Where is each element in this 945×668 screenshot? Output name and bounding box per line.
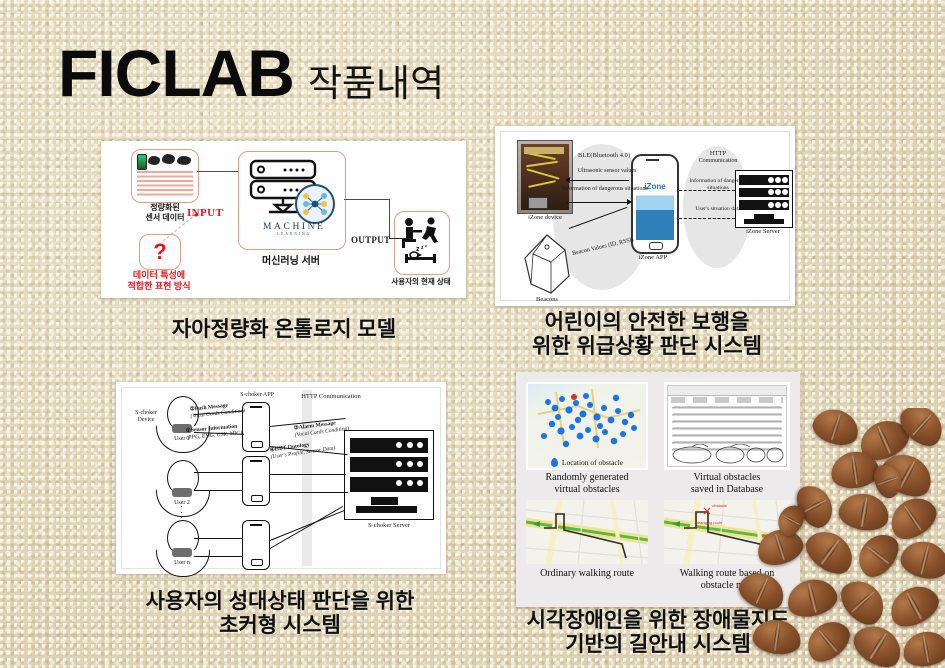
- map-canvas-1: [528, 384, 646, 468]
- edge-question-to-input: [161, 213, 201, 245]
- arrow-app-to-user2: [194, 472, 242, 473]
- edge-output-arrow: [389, 238, 411, 239]
- project-caption-1: 자아정량화 온톨로지 모델: [101, 318, 467, 342]
- title-main: FICLAB: [58, 40, 294, 106]
- msg-ultrasonic: Ultrasonic sensor values: [561, 168, 653, 174]
- s-choker-server-icon: [344, 430, 434, 520]
- edge-ml-to-output-h: [344, 199, 390, 200]
- question-box-caption: 데이터 특성에 적합한 표현 방식: [107, 270, 211, 293]
- random-obstacles-map: Location of obstacle: [526, 382, 648, 470]
- phone-icon: [137, 154, 147, 170]
- arrow-usern-to-app: [194, 556, 242, 557]
- wearable-icon-1: [148, 156, 160, 165]
- msg-user-situation: User's situation data: [681, 206, 755, 212]
- msg-danger-to-app: Information of dangerous situations: [559, 186, 651, 194]
- svg-text:obstacle: obstacle: [712, 503, 728, 508]
- beacon-icon: [519, 232, 575, 296]
- izone-app-label: iZone APP: [621, 254, 685, 261]
- ml-brand-label: MACHINE LEARNING: [263, 222, 325, 236]
- sensor-data-box: [131, 149, 199, 203]
- route-graphic-3: [526, 500, 648, 564]
- sensor-data-lines: [137, 171, 193, 198]
- ml-brand-main: MACHINE: [263, 222, 326, 232]
- wearable-icon-2: [162, 154, 175, 164]
- arrow-server-to-app2: [270, 474, 346, 475]
- question-caption-line1: 데이터 특성에: [107, 270, 211, 281]
- ml-server-box: MACHINE LEARNING: [238, 151, 346, 250]
- s-choker-device-label-1: S-choker: [124, 410, 168, 417]
- neural-network-icon: [295, 184, 335, 224]
- legend-marker-icon: [551, 458, 558, 467]
- s-choker-device-collar-2: [172, 488, 192, 497]
- map-canvas-3: [526, 500, 648, 564]
- coffee-beans-decoration: [735, 408, 945, 668]
- arrow-app-to-device: [567, 202, 629, 203]
- izone-app-screen: iZone: [636, 168, 674, 240]
- s-choker-app-phone-2: [242, 456, 270, 506]
- caption-2-line-1: 어린이의 안전한 보행을: [482, 311, 812, 335]
- arrow-app-to-usern: [194, 538, 242, 539]
- page-title: FICLAB 작품내역: [58, 40, 444, 106]
- edge-sensor-to-ml-h: [197, 171, 238, 172]
- ble-channel-label: BLE(Bluetooth 4.0): [559, 152, 649, 159]
- arrow-app2-to-server: [270, 492, 348, 493]
- question-caption-line2: 적합한 표현 방식: [107, 281, 211, 292]
- project-caption-3: 사용자의 성대상태 판단을 위한 초커형 시스템: [90, 590, 470, 637]
- izone-device-label: iZone device: [509, 214, 581, 221]
- cell-1-caption-line1: Randomly generated: [522, 472, 652, 484]
- svg-text:changing route: changing route: [696, 520, 723, 525]
- arrowhead-right-1: [627, 199, 632, 205]
- http-channel-band: [302, 390, 312, 566]
- caption-1-line-1: 자아정량화 온톨로지 모델: [101, 318, 467, 342]
- svg-text:z: z: [425, 243, 427, 248]
- beacons-label: Beacons: [517, 296, 577, 303]
- http-channel-label-1: HTTP: [691, 150, 745, 157]
- arrow-app-to-server: [679, 190, 735, 191]
- map-legend-1: Location of obstacle: [528, 458, 646, 467]
- project-panel-3[interactable]: User 1 S-choker Device User 2 User n ...…: [116, 382, 446, 574]
- legend-label: Location of obstacle: [562, 458, 623, 467]
- cell-3-caption-line1: Ordinary walking route: [520, 568, 654, 580]
- ordinary-route-map: [526, 500, 648, 564]
- izone-server-label: iZone Server: [729, 228, 797, 235]
- s-choker-app-phone-n: [242, 520, 270, 570]
- http-communication-label: HTTP Communication: [280, 393, 382, 400]
- arrow-server-to-app: [679, 218, 735, 219]
- map-obstacle-dots: [528, 384, 646, 454]
- edge-ml-to-output-v: [389, 199, 390, 239]
- svg-text:z: z: [421, 245, 424, 251]
- arrowhead-left-1: [565, 177, 570, 183]
- wearable-icon-3: [177, 156, 191, 165]
- cell-1-caption: Randomly generated virtual obstacles: [522, 472, 652, 496]
- panel-3-inner: User 1 S-choker Device User 2 User n ...…: [121, 387, 441, 569]
- project-panel-1[interactable]: 정량화된 센서 데이터 ? 데이터 특성에 적합한 표현 방식 MACHINE: [101, 141, 466, 298]
- edge-label-output: OUTPUT: [351, 235, 390, 245]
- panel-2-inner: iZone device Beacons iZone iZone APP: [500, 131, 790, 301]
- caption-3-line-2: 초커형 시스템: [90, 614, 470, 638]
- user-n-figure: User n: [152, 520, 212, 572]
- s-choker-server-label: S-choker Server: [346, 522, 432, 529]
- project-caption-2: 어린이의 안전한 보행을 위한 위급상황 판단 시스템: [482, 311, 812, 358]
- caption-3-line-1: 사용자의 성대상태 판단을 위한: [90, 590, 470, 614]
- project-panel-2[interactable]: iZone device Beacons iZone iZone APP: [495, 126, 795, 306]
- s-choker-device-label: S-choker Device: [124, 410, 168, 424]
- ml-server-label: 머신러닝 서버: [232, 252, 350, 267]
- http-channel-label-2: Communication: [687, 158, 749, 164]
- cell-1-caption-line2: virtual obstacles: [522, 484, 652, 496]
- user-n-label: User n: [174, 560, 190, 566]
- ellipsis-vertical: ...: [180, 502, 183, 519]
- title-sub: 작품내역: [308, 65, 444, 102]
- arrow-device-to-app: [567, 180, 629, 181]
- output-box-label: 사용자의 현재 상태: [371, 276, 471, 287]
- ml-brand-sub: LEARNING: [263, 232, 325, 236]
- output-box: z z z: [394, 211, 450, 275]
- arrow-user2-to-app: [194, 490, 242, 491]
- cell-3-caption: Ordinary walking route: [520, 568, 654, 580]
- s-choker-device-label-2: Device: [124, 417, 168, 424]
- caption-2-line-2: 위한 위급상황 판단 시스템: [482, 335, 812, 359]
- s-choker-device-collar-n: [172, 548, 192, 557]
- user-state-icon: z z z: [398, 216, 446, 268]
